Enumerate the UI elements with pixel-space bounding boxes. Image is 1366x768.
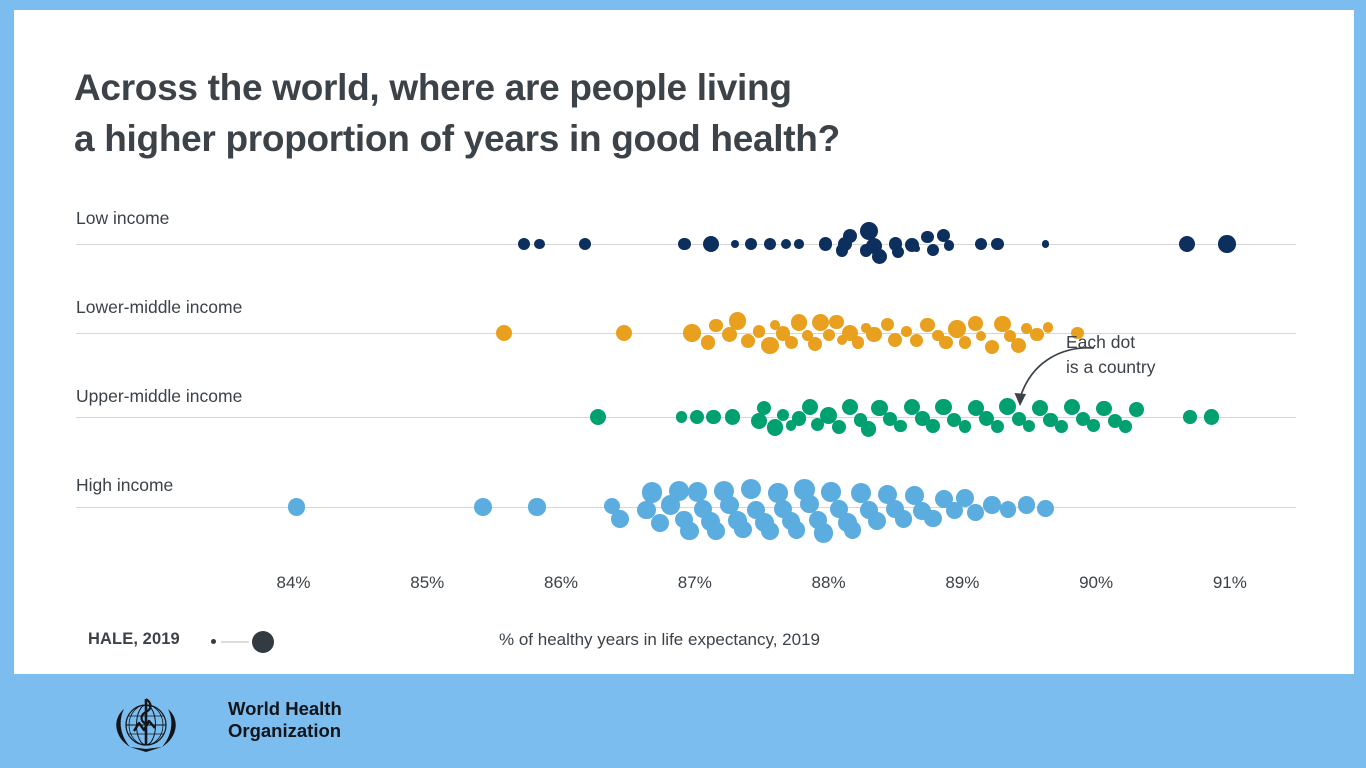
country-dot[interactable] bbox=[920, 318, 934, 332]
country-dot[interactable] bbox=[785, 336, 798, 349]
country-dot[interactable] bbox=[680, 522, 698, 540]
country-dot[interactable] bbox=[534, 239, 544, 249]
white-card: Across the world, where are people livin… bbox=[14, 10, 1354, 674]
country-dot[interactable] bbox=[944, 240, 954, 250]
country-dot[interactable] bbox=[939, 336, 953, 350]
country-dot[interactable] bbox=[1183, 410, 1197, 424]
row-label-lower-middle-income: Lower-middle income bbox=[76, 297, 242, 318]
country-dot[interactable] bbox=[802, 399, 818, 415]
country-dot[interactable] bbox=[842, 399, 858, 415]
who-emblem-icon bbox=[76, 694, 216, 756]
country-dot[interactable] bbox=[983, 496, 1001, 514]
country-dot[interactable] bbox=[881, 318, 894, 331]
country-dot[interactable] bbox=[616, 325, 633, 342]
country-dot[interactable] bbox=[959, 336, 971, 348]
country-dot[interactable] bbox=[731, 240, 739, 248]
country-dot[interactable] bbox=[791, 314, 807, 330]
country-dot[interactable] bbox=[872, 249, 887, 264]
country-dot[interactable] bbox=[975, 238, 987, 250]
row-label-low-income: Low income bbox=[76, 208, 169, 229]
country-dot[interactable] bbox=[757, 401, 771, 415]
who-text-line-2: Organization bbox=[228, 720, 342, 742]
country-dot[interactable] bbox=[1055, 420, 1069, 434]
country-dot[interactable] bbox=[866, 327, 882, 343]
size-legend bbox=[210, 629, 282, 653]
country-dot[interactable] bbox=[921, 231, 934, 244]
x-axis-title: % of healthy years in life expectancy, 2… bbox=[499, 630, 820, 650]
row-baseline bbox=[76, 507, 1296, 508]
country-dot[interactable] bbox=[1129, 402, 1144, 417]
country-dot[interactable] bbox=[895, 510, 912, 527]
country-dot[interactable] bbox=[814, 523, 833, 542]
size-legend-small-dot-icon bbox=[211, 639, 216, 644]
country-dot[interactable] bbox=[836, 244, 848, 256]
country-dot[interactable] bbox=[1119, 420, 1131, 432]
row-label-upper-middle-income: Upper-middle income bbox=[76, 386, 242, 407]
country-dot[interactable] bbox=[819, 237, 832, 250]
country-dot[interactable] bbox=[1018, 496, 1036, 514]
country-dot[interactable] bbox=[741, 479, 762, 500]
country-dot[interactable] bbox=[688, 482, 708, 502]
country-dot[interactable] bbox=[959, 420, 971, 432]
country-dot[interactable] bbox=[794, 239, 804, 249]
country-dot[interactable] bbox=[1043, 322, 1053, 332]
country-dot[interactable] bbox=[832, 420, 846, 434]
size-legend-large-dot-icon bbox=[252, 631, 274, 653]
row-label-high-income: High income bbox=[76, 475, 173, 496]
country-dot[interactable] bbox=[852, 336, 864, 348]
x-axis-tick-label: 87% bbox=[678, 573, 712, 593]
poster-root: Across the world, where are people livin… bbox=[0, 0, 1366, 768]
country-dot[interactable] bbox=[788, 521, 806, 539]
country-dot[interactable] bbox=[518, 238, 530, 250]
country-dot[interactable] bbox=[496, 325, 512, 341]
who-logo: World Health Organization bbox=[76, 694, 336, 756]
country-dot[interactable] bbox=[968, 316, 983, 331]
country-dot[interactable] bbox=[991, 238, 1004, 251]
country-dot[interactable] bbox=[683, 324, 701, 342]
country-dot[interactable] bbox=[1218, 235, 1236, 253]
country-dot[interactable] bbox=[741, 334, 755, 348]
who-text-line-1: World Health bbox=[228, 698, 342, 720]
country-dot[interactable] bbox=[1000, 501, 1016, 517]
country-dot[interactable] bbox=[706, 410, 720, 424]
country-dot[interactable] bbox=[764, 238, 776, 250]
country-dot[interactable] bbox=[927, 244, 939, 256]
country-dot[interactable] bbox=[678, 238, 691, 251]
country-dot[interactable] bbox=[725, 409, 740, 424]
country-dot[interactable] bbox=[734, 521, 751, 538]
country-dot[interactable] bbox=[703, 236, 719, 252]
country-dot[interactable] bbox=[767, 419, 784, 436]
country-dot[interactable] bbox=[808, 337, 822, 351]
country-dot[interactable] bbox=[707, 522, 725, 540]
x-axis-tick-label: 85% bbox=[410, 573, 444, 593]
country-dot[interactable] bbox=[976, 331, 986, 341]
indicator-label: HALE, 2019 bbox=[88, 630, 180, 649]
country-dot[interactable] bbox=[967, 504, 984, 521]
country-dot[interactable] bbox=[528, 498, 545, 515]
country-dot[interactable] bbox=[669, 481, 689, 501]
country-dot[interactable] bbox=[894, 420, 907, 433]
country-dot[interactable] bbox=[1204, 409, 1219, 424]
country-dot[interactable] bbox=[924, 510, 942, 528]
x-axis-tick-label: 89% bbox=[945, 573, 979, 593]
who-logo-text: World Health Organization bbox=[228, 698, 342, 742]
country-dot[interactable] bbox=[777, 409, 789, 421]
country-dot[interactable] bbox=[1087, 419, 1100, 432]
country-dot[interactable] bbox=[991, 420, 1004, 433]
country-dot[interactable] bbox=[709, 319, 723, 333]
x-axis-tick-label: 88% bbox=[812, 573, 846, 593]
country-dot[interactable] bbox=[474, 498, 492, 516]
country-dot[interactable] bbox=[651, 514, 669, 532]
country-dot[interactable] bbox=[861, 421, 877, 437]
country-dot[interactable] bbox=[751, 413, 767, 429]
country-dot[interactable] bbox=[676, 411, 688, 423]
country-dot[interactable] bbox=[690, 410, 704, 424]
country-dot[interactable] bbox=[781, 239, 791, 249]
country-dot[interactable] bbox=[579, 238, 591, 250]
country-dot[interactable] bbox=[829, 315, 843, 329]
country-dot[interactable] bbox=[910, 334, 923, 347]
country-dot[interactable] bbox=[288, 498, 305, 515]
country-dot[interactable] bbox=[935, 399, 951, 415]
country-dot[interactable] bbox=[792, 411, 806, 425]
x-axis-tick-label: 90% bbox=[1079, 573, 1113, 593]
country-dot[interactable] bbox=[1023, 420, 1035, 432]
annotation-arrow-icon bbox=[994, 340, 1104, 420]
x-axis-tick-label: 84% bbox=[276, 573, 310, 593]
country-dot[interactable] bbox=[892, 246, 904, 258]
country-dot[interactable] bbox=[745, 238, 758, 251]
country-dot[interactable] bbox=[761, 337, 779, 355]
country-dot[interactable] bbox=[888, 333, 902, 347]
country-dot[interactable] bbox=[642, 482, 662, 502]
country-dot[interactable] bbox=[1042, 240, 1049, 247]
country-dot[interactable] bbox=[611, 510, 629, 528]
country-dot[interactable] bbox=[868, 512, 886, 530]
country-dot[interactable] bbox=[926, 419, 940, 433]
country-dot[interactable] bbox=[851, 483, 871, 503]
x-axis-tick-label: 86% bbox=[544, 573, 578, 593]
country-dot[interactable] bbox=[1037, 500, 1054, 517]
country-dot[interactable] bbox=[1179, 236, 1195, 252]
country-dot[interactable] bbox=[729, 312, 746, 329]
size-legend-connector bbox=[221, 641, 249, 643]
country-dot[interactable] bbox=[844, 521, 862, 539]
country-dot[interactable] bbox=[901, 326, 912, 337]
x-axis-tick-label: 91% bbox=[1213, 573, 1247, 593]
country-dot[interactable] bbox=[913, 245, 920, 252]
country-dot[interactable] bbox=[753, 325, 765, 337]
country-dot[interactable] bbox=[823, 329, 835, 341]
country-dot[interactable] bbox=[843, 229, 858, 244]
country-dot[interactable] bbox=[701, 335, 715, 349]
country-dot[interactable] bbox=[590, 409, 606, 425]
country-dot[interactable] bbox=[761, 522, 779, 540]
